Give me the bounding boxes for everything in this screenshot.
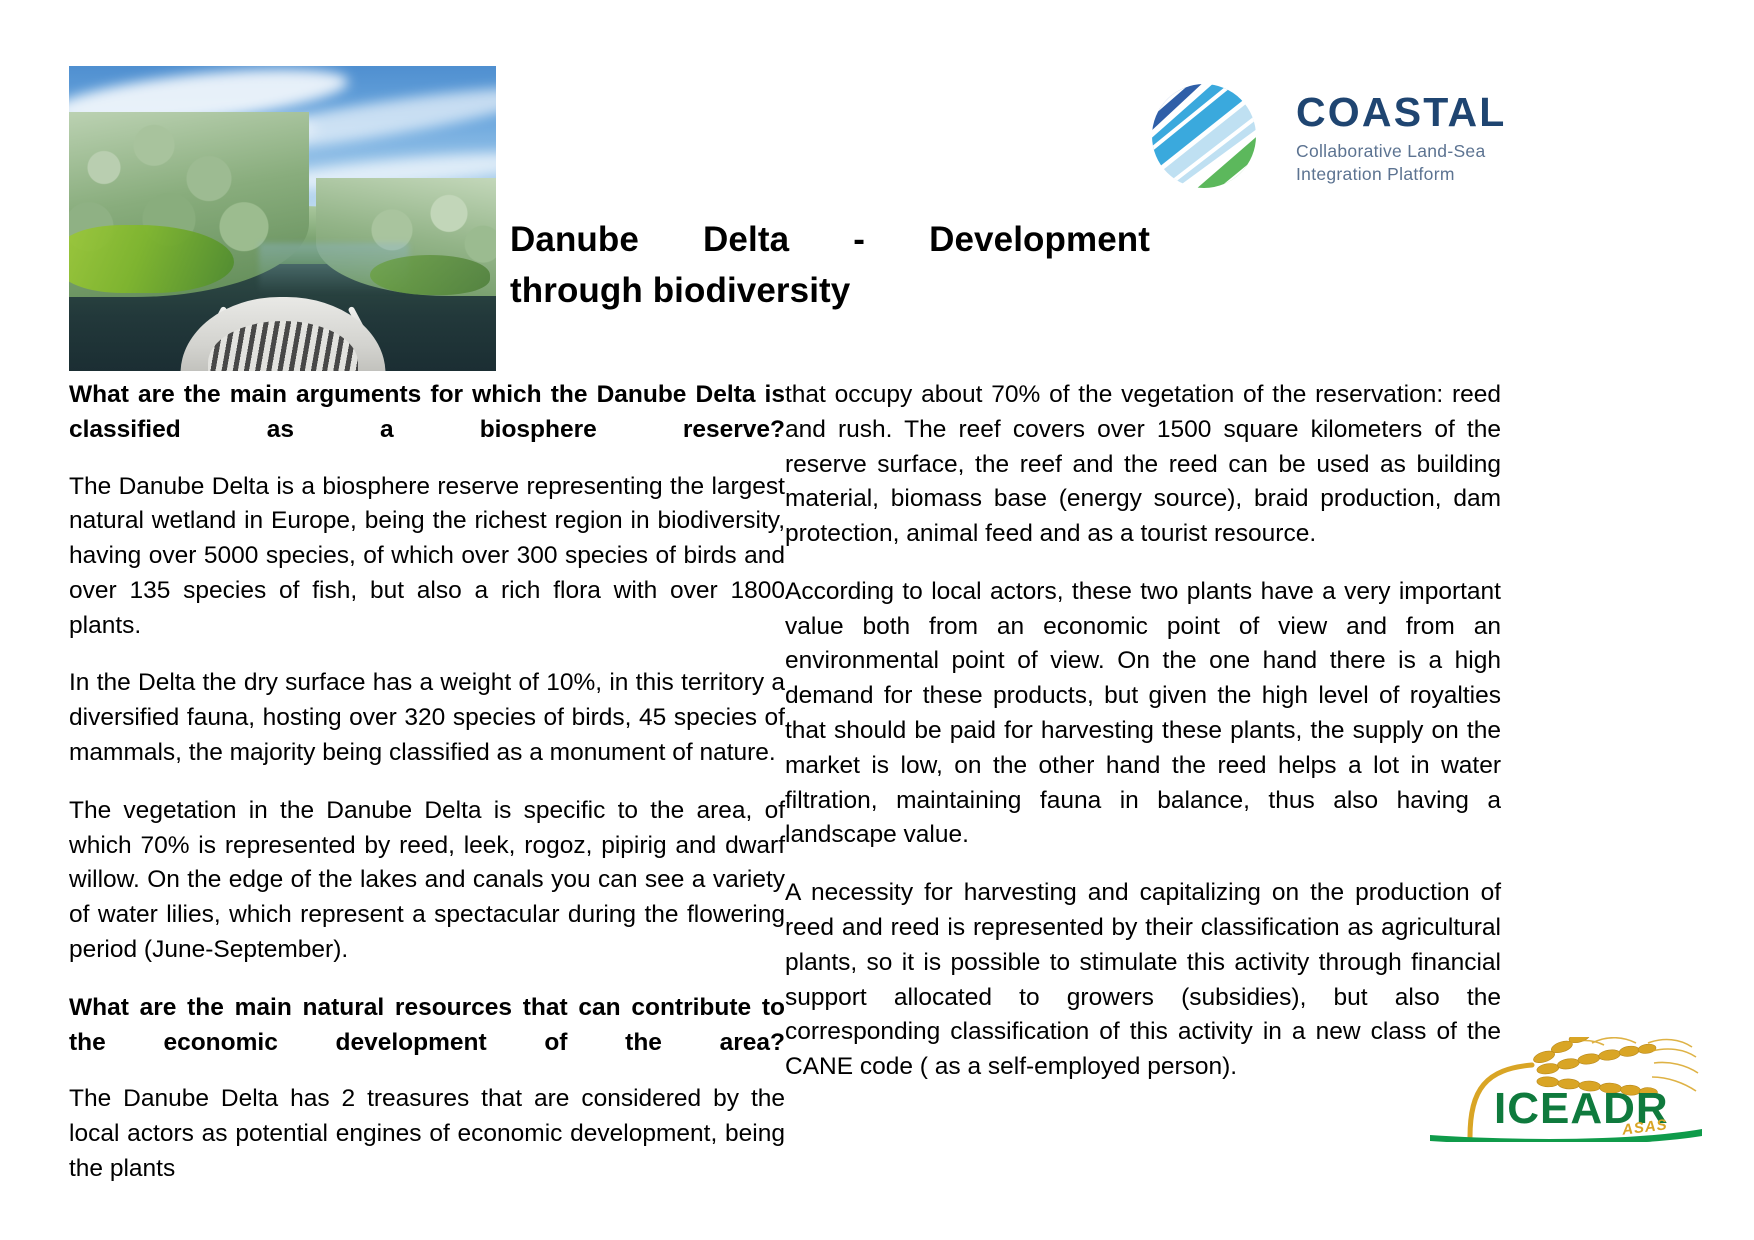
- left-paragraph-2: In the Delta the dry surface has a weigh…: [69, 666, 785, 770]
- coastal-tagline-line2: Integration Platform: [1296, 163, 1507, 186]
- left-paragraph-3: The vegetation in the Danube Delta is sp…: [69, 794, 785, 968]
- right-paragraph-2: According to local actors, these two pla…: [785, 575, 1501, 853]
- right-paragraph-3: A necessity for harvesting and capitaliz…: [785, 876, 1501, 1085]
- coastal-globe-icon: [1150, 82, 1258, 190]
- coastal-logo: COASTAL Collaborative Land-Sea Integrati…: [1150, 82, 1510, 194]
- right-column: that occupy about 70% of the vegetation …: [785, 378, 1501, 1108]
- coastal-tagline: Collaborative Land-Sea Integration Platf…: [1296, 140, 1507, 186]
- left-heading-2: What are the main natural resources that…: [69, 991, 785, 1061]
- page-title-line1: Danube Delta - Development: [510, 215, 1150, 266]
- left-paragraph-4: The Danube Delta has 2 treasures that ar…: [69, 1082, 785, 1186]
- photo-algae-right: [370, 255, 490, 295]
- danube-delta-photo: [69, 66, 496, 371]
- left-column: What are the main arguments for which th…: [69, 378, 785, 1210]
- coastal-wordmark: COASTAL: [1296, 92, 1507, 133]
- left-heading-1: What are the main arguments for which th…: [69, 378, 785, 448]
- coastal-tagline-line1: Collaborative Land-Sea: [1296, 140, 1507, 163]
- coastal-logo-text: COASTAL Collaborative Land-Sea Integrati…: [1296, 92, 1507, 186]
- iceadr-logo: ICEADR ASAS: [1412, 1037, 1712, 1142]
- left-paragraph-1: The Danube Delta is a biosphere reserve …: [69, 470, 785, 644]
- document-header: Danube Delta - Development through biodi…: [0, 0, 1754, 375]
- right-paragraph-1: that occupy about 70% of the vegetation …: [785, 378, 1501, 552]
- page-title-line2: through biodiversity: [510, 266, 1150, 317]
- page-title: Danube Delta - Development through biodi…: [510, 215, 1150, 317]
